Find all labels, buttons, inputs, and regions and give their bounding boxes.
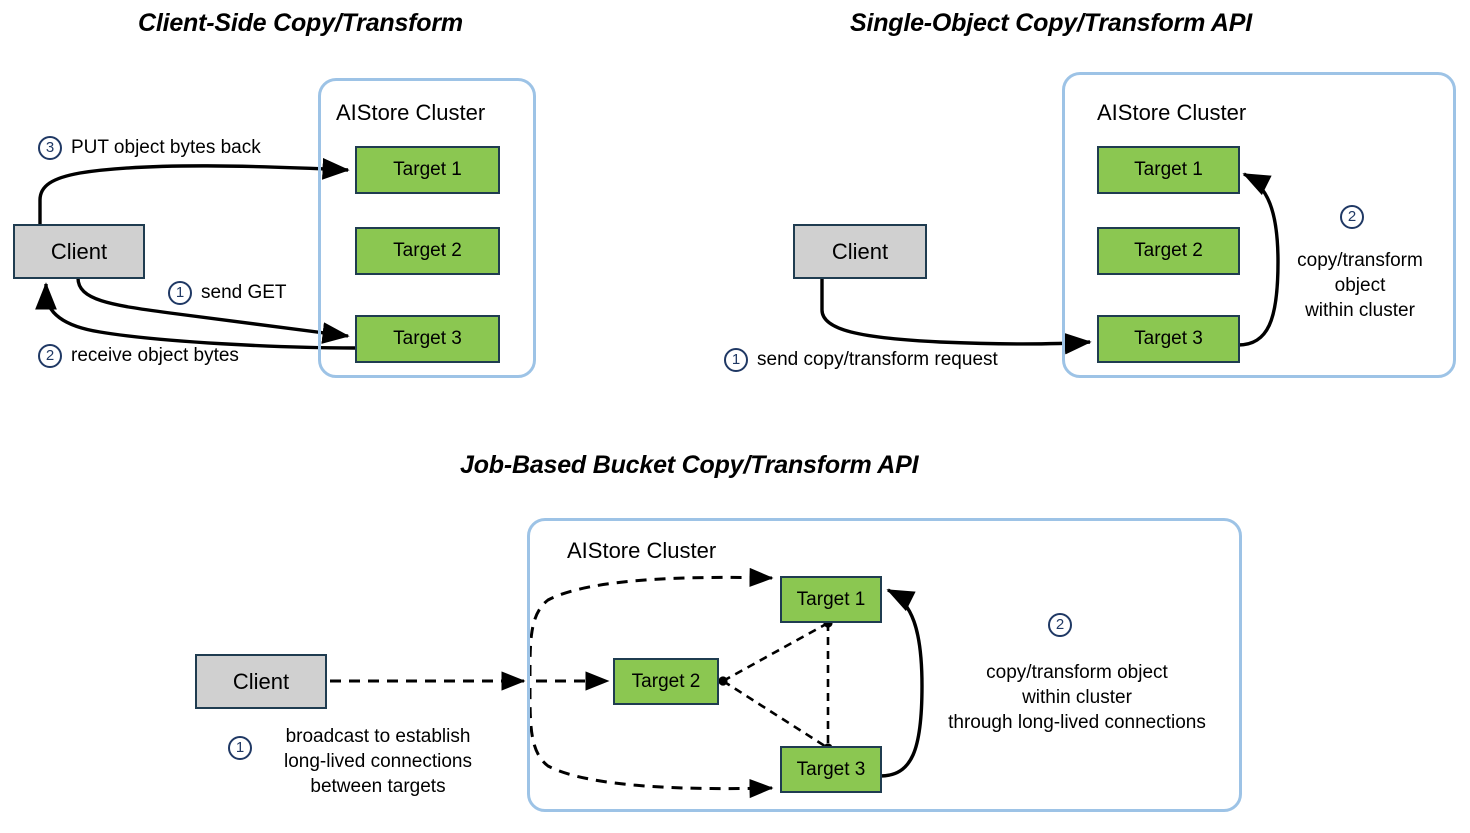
target-node-3-single-object[interactable]: Target 3	[1097, 315, 1240, 363]
target-node-2-client-side[interactable]: Target 2	[355, 227, 500, 275]
step-badge-2: 2	[38, 344, 62, 368]
diagram-canvas: Client-Side Copy/Transform AIStore Clust…	[0, 0, 1470, 833]
arrow-put-object-bytes-back	[40, 166, 348, 224]
step-label-send-get: 1 send GET	[168, 281, 287, 305]
panel-title-single-object: Single-Object Copy/Transform API	[850, 8, 1252, 38]
target-node-1-single-object[interactable]: Target 1	[1097, 146, 1240, 194]
step-badge-2-single-object: 2	[1340, 205, 1364, 229]
note-copy-transform-within-cluster: copy/transform object within cluster	[1270, 248, 1450, 323]
client-node-single-object[interactable]: Client	[793, 224, 927, 279]
step-label-receive-object-bytes: 2 receive object bytes	[38, 344, 239, 368]
step-badge-1: 1	[724, 348, 748, 372]
target-node-3-client-side[interactable]: Target 3	[355, 315, 500, 363]
panel-title-job-based: Job-Based Bucket Copy/Transform API	[460, 450, 918, 480]
note-broadcast-establish-connections: broadcast to establish long-lived connec…	[258, 724, 498, 799]
step-text-send-copy-transform-request: send copy/transform request	[757, 348, 998, 372]
target-node-3-job-based[interactable]: Target 3	[780, 746, 882, 793]
client-node-job-based[interactable]: Client	[195, 654, 327, 709]
step-text-receive-object-bytes: receive object bytes	[71, 344, 239, 368]
step-label-send-copy-transform-request: 1 send copy/transform request	[724, 348, 998, 372]
step-label-put-object-bytes-back: 3 PUT object bytes back	[38, 136, 261, 160]
cluster-label-client-side: AIStore Cluster	[336, 100, 485, 126]
note-copy-transform-long-lived: copy/transform object within cluster thr…	[925, 660, 1229, 735]
target-node-1-client-side[interactable]: Target 1	[355, 146, 500, 194]
cluster-label-single-object: AIStore Cluster	[1097, 100, 1246, 126]
target-node-1-job-based[interactable]: Target 1	[780, 576, 882, 623]
step-badge-3: 3	[38, 136, 62, 160]
target-node-2-job-based[interactable]: Target 2	[613, 658, 719, 705]
step-badge-1: 1	[168, 281, 192, 305]
step-badge-1-job-based: 1	[228, 736, 252, 760]
step-text-send-get: send GET	[201, 281, 287, 305]
step-text-put-object-bytes-back: PUT object bytes back	[71, 136, 261, 160]
target-node-2-single-object[interactable]: Target 2	[1097, 227, 1240, 275]
step-badge-2-job-based: 2	[1048, 613, 1072, 637]
client-node-client-side[interactable]: Client	[13, 224, 145, 279]
arrow-send-copy-transform-request	[822, 278, 1090, 344]
cluster-label-job-based: AIStore Cluster	[567, 538, 716, 564]
panel-title-client-side: Client-Side Copy/Transform	[138, 8, 463, 38]
